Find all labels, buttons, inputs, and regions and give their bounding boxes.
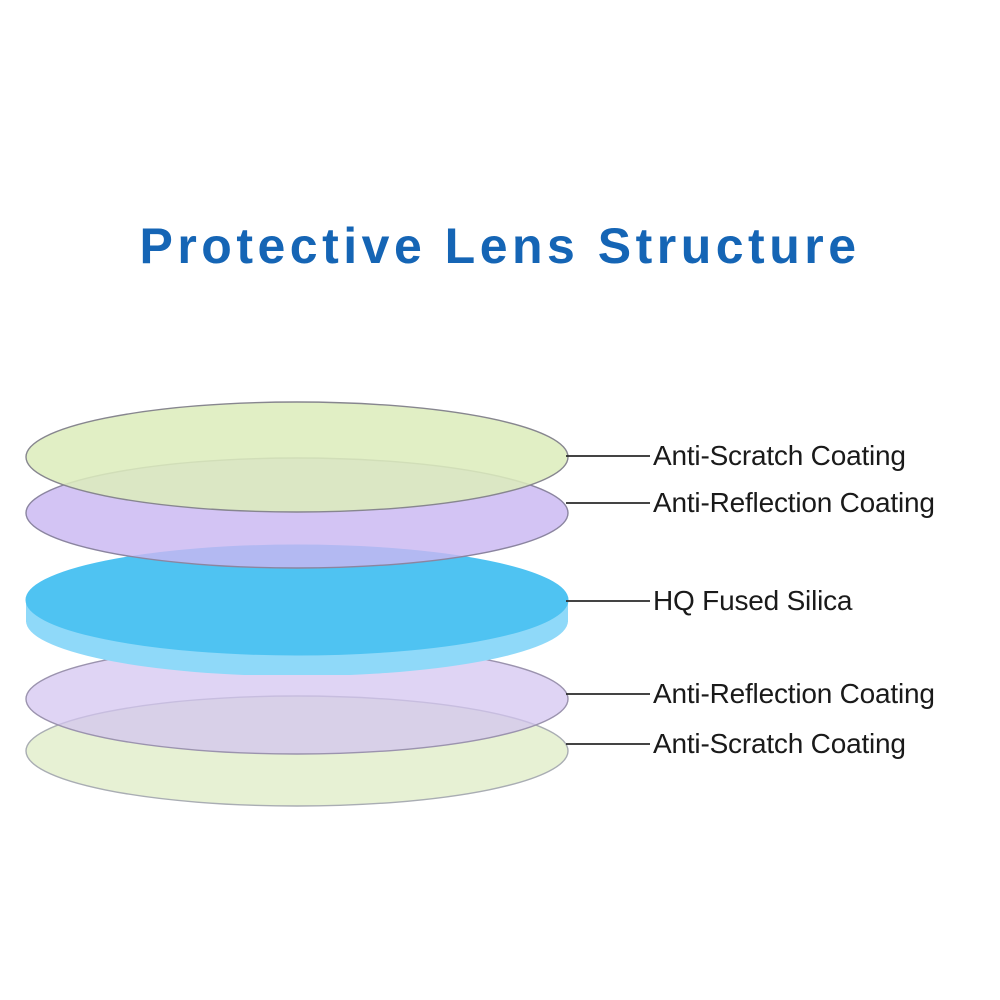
callout-label-anti-scratch-top: Anti-Scratch Coating [653,442,906,470]
layer-shape-top-anti-scratch[interactable] [26,402,568,512]
callout-label-anti-reflection-bottom: Anti-Reflection Coating [653,680,935,708]
callout-label-anti-reflection-top: Anti-Reflection Coating [653,489,935,517]
diagram-canvas: Protective Lens Structure [0,0,1000,1000]
callout-label-anti-scratch-bottom: Anti-Scratch Coating [653,730,906,758]
callout-label-hq-fused-silica: HQ Fused Silica [653,587,852,615]
